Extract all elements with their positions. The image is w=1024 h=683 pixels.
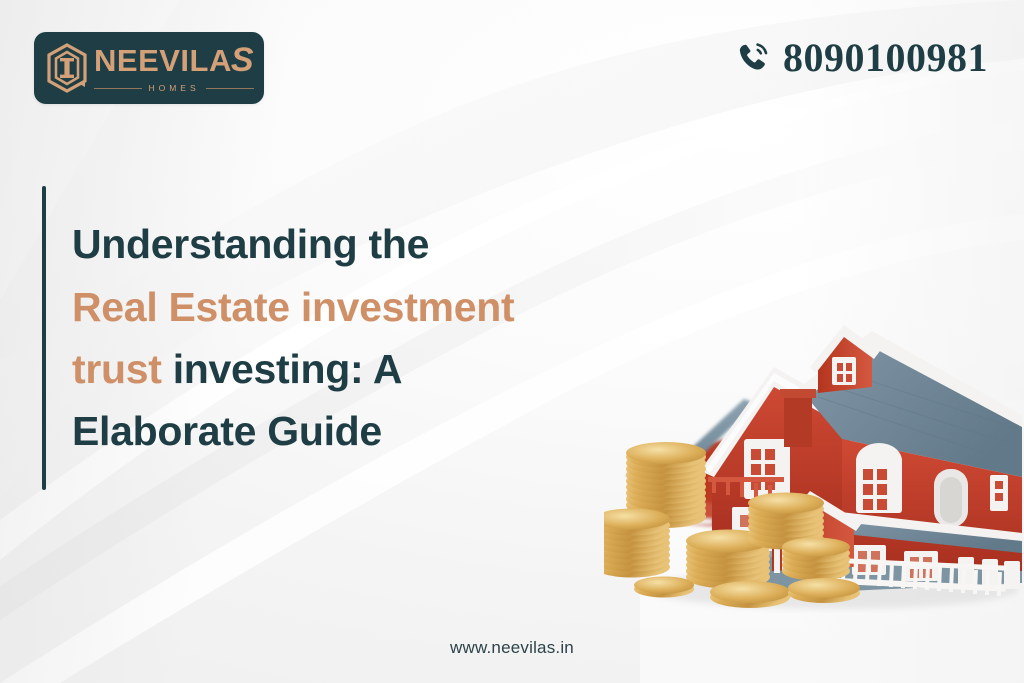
promotional-banner: NEEVILAS HOMES 8090100981 Understanding … [0, 0, 1024, 683]
logo-wordmark-block: NEEVILAS HOMES [94, 43, 254, 93]
headline-line-3-accent: trust [72, 346, 162, 392]
logo-tagline-row: HOMES [94, 83, 254, 93]
phone-number: 8090100981 [783, 38, 988, 78]
logo-rule-right [206, 88, 254, 89]
headline-block: Understanding the Real Estate investment… [42, 186, 514, 490]
logo-rule-left [94, 88, 142, 89]
coin-stack-right-lower [782, 538, 850, 581]
contact-phone[interactable]: 8090100981 [736, 38, 988, 78]
logo-wordmark: NEEVILAS [94, 43, 254, 77]
neevilas-monogram-icon [44, 43, 90, 93]
website-url[interactable]: www.neevilas.in [0, 638, 1024, 658]
headline-line-3-plain: investing: A [162, 346, 403, 392]
logo-wordmark-main: NEEVILA [94, 45, 232, 76]
brand-logo[interactable]: NEEVILAS HOMES [34, 32, 264, 104]
house-and-coins-image [604, 271, 1024, 631]
headline-line-4: Elaborate Guide [72, 408, 382, 454]
headline-line-1: Understanding the [72, 221, 429, 267]
headline-line-2: Real Estate investment [72, 284, 514, 330]
house-and-coins-illustration [604, 271, 1024, 631]
phone-call-icon [736, 41, 770, 75]
logo-wordmark-tail: S [231, 43, 254, 77]
page-title: Understanding the Real Estate investment… [72, 213, 514, 462]
coin-stack-left [604, 509, 670, 578]
logo-tagline: HOMES [148, 83, 199, 93]
headline-accent-bar [42, 186, 46, 490]
